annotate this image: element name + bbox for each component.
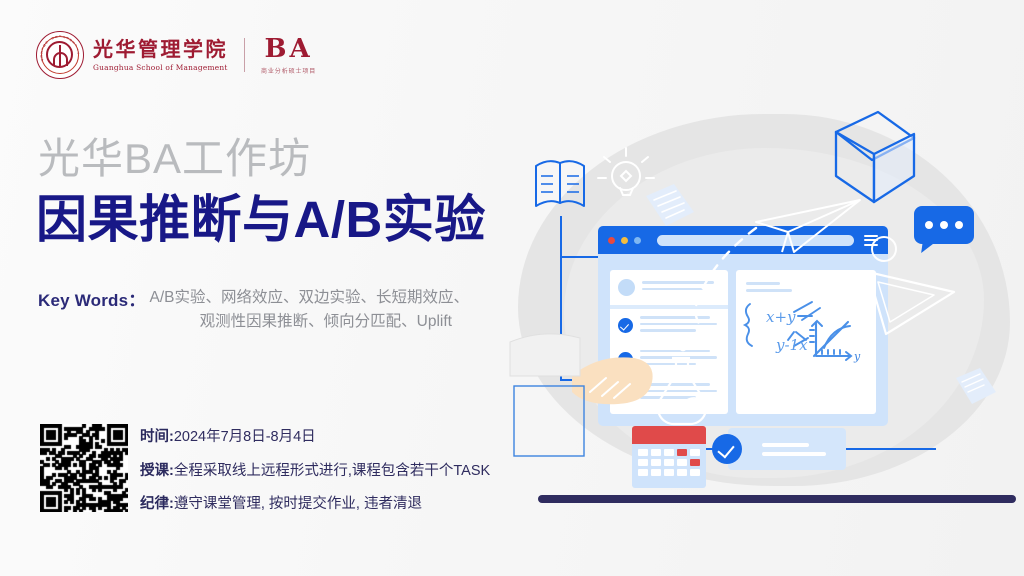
chat-bubble-icon: [914, 206, 974, 244]
list-item: [610, 309, 728, 343]
school-name-en: Guanghua School of Management: [93, 63, 228, 72]
hero-illustration: x+y y-1x y: [504, 96, 1024, 516]
check-circle-icon: [618, 385, 633, 400]
window-minimize-dot-icon[interactable]: [621, 237, 628, 244]
desk-bar: [538, 495, 1016, 503]
school-name-block: 光华管理学院 Guanghua School of Management: [93, 39, 228, 72]
list-item: [610, 343, 728, 377]
ba-program-logo: BA 商业分析硕士项目: [261, 36, 316, 75]
logo-divider: [244, 38, 245, 72]
hamburger-menu-icon[interactable]: [864, 235, 878, 246]
window-close-dot-icon[interactable]: [608, 237, 615, 244]
browser-title-bar: [598, 226, 888, 254]
calendar-icon: [632, 426, 706, 488]
keywords-line-1: A/B实验、网络效应、双边实验、长短期效应、: [150, 286, 470, 310]
info-row-discipline: 纪律:遵守课堂管理, 按时提交作业, 违者清退: [140, 497, 560, 512]
list-item-header: [610, 270, 728, 309]
browser-window: x+y y-1x y: [598, 226, 888, 426]
info-list: 时间:2024年7月8日-8月4日 授课:全程采取线上远程形式进行,课程包含若干…: [140, 430, 560, 531]
calendar-header: [632, 426, 706, 444]
ba-program-cn: 商业分析硕士项目: [261, 66, 316, 75]
list-item: [610, 376, 728, 410]
info-label-teaching: 授课:: [140, 463, 174, 479]
connector-dot-yellow: [556, 336, 567, 347]
window-maximize-dot-icon[interactable]: [634, 237, 641, 244]
avatar: [618, 279, 635, 296]
info-value-time: 2024年7月8日-8月4日: [174, 429, 316, 445]
seal-micro-text: PEKING UNIVERSITY: [37, 32, 83, 78]
info-label-discipline: 纪律:: [140, 496, 174, 512]
connector-to-browser: [560, 256, 600, 258]
keywords-block: Key Words： A/B实验、网络效应、双边实验、长短期效应、 观测性因果推…: [38, 286, 518, 334]
info-label-time: 时间:: [140, 429, 174, 445]
whiteboard-formula-2: y-1x: [775, 336, 808, 354]
check-circle-icon: [618, 318, 633, 333]
page-title: 因果推断与A/B实验: [36, 192, 486, 247]
connector-check-right: [846, 448, 936, 450]
connector-dot-red: [556, 359, 567, 370]
ba-abbr: BA: [265, 36, 313, 62]
check-badge-icon: [712, 434, 742, 464]
whiteboard-formula-1: x+y: [766, 308, 796, 326]
connector-vertical: [560, 216, 562, 381]
keywords-label: Key Words：: [38, 286, 146, 311]
brand-logo-bar: PEKING UNIVERSITY 光华管理学院 Guanghua School…: [36, 30, 316, 80]
calendar-grid: [632, 444, 706, 481]
address-bar[interactable]: [657, 235, 854, 246]
qr-code[interactable]: [40, 424, 128, 512]
info-row-time: 时间:2024年7月8日-8月4日: [140, 430, 560, 445]
whiteboard-axis-y-label: y: [853, 350, 861, 363]
info-row-teaching: 授课:全程采取线上远程形式进行,课程包含若干个TASK: [140, 464, 560, 479]
peking-university-seal-icon: PEKING UNIVERSITY: [36, 31, 84, 79]
info-value-teaching: 全程采取线上远程形式进行,课程包含若干个TASK: [174, 463, 490, 479]
task-list-panel: [610, 270, 728, 414]
poster-canvas: PEKING UNIVERSITY 光华管理学院 Guanghua School…: [0, 0, 1024, 576]
whiteboard-panel: x+y y-1x y: [736, 270, 876, 414]
school-name-cn: 光华管理学院: [93, 39, 228, 60]
check-task-card: [728, 428, 846, 470]
info-value-discipline: 遵守课堂管理, 按时提交作业, 违者清退: [174, 496, 422, 512]
hero-kicker: 光华BA工作坊: [38, 138, 311, 180]
check-circle-icon: [618, 352, 633, 367]
keywords-line-2: 观测性因果推断、倾向分匹配、Uplift: [38, 310, 518, 334]
